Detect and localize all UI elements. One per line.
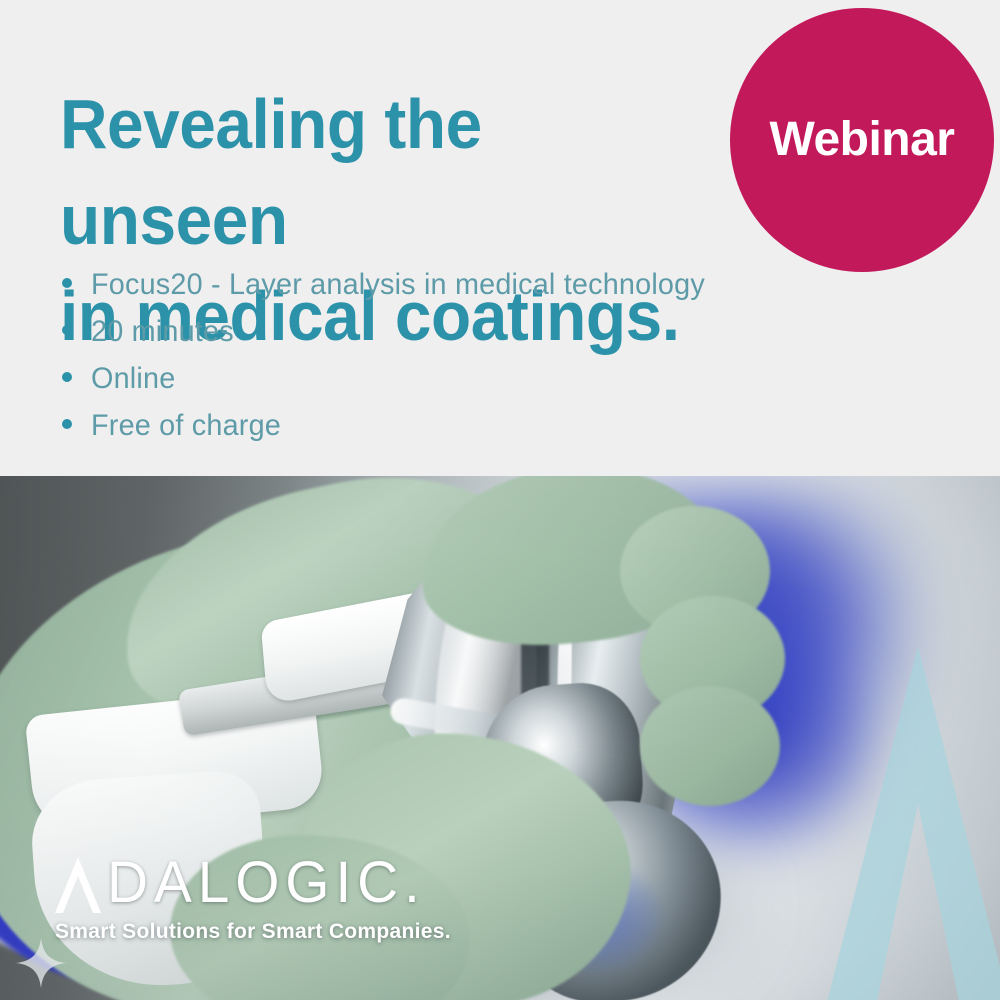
chevron-brand-mark-icon bbox=[770, 646, 1000, 1000]
logo-tagline: Smart Solutions for Smart Companies. bbox=[55, 920, 475, 944]
list-item: 20 minutes bbox=[62, 315, 731, 362]
brand-logo: DALOGIC. Smart Solutions for Smart Compa… bbox=[55, 852, 475, 944]
bullet-dot-icon bbox=[62, 278, 72, 288]
bullet-dot-icon bbox=[62, 325, 72, 335]
logo-chevron-a-icon bbox=[55, 857, 101, 913]
sparkle-icon bbox=[16, 938, 66, 988]
list-item-label: Free of charge bbox=[91, 409, 281, 443]
webinar-badge: Webinar bbox=[730, 8, 994, 272]
logo-wordmark: DALOGIC. bbox=[55, 852, 475, 912]
webinar-promo-poster: Revealing the unseen in medical coatings… bbox=[0, 0, 1000, 1000]
list-item-label: 20 minutes bbox=[91, 315, 234, 349]
bullet-dot-icon bbox=[62, 419, 72, 429]
logo-wordmark-text: DALOGIC. bbox=[107, 854, 426, 912]
glove-knuckle-lower bbox=[640, 686, 780, 806]
bullet-dot-icon bbox=[62, 372, 72, 382]
list-item: Free of charge bbox=[62, 409, 731, 456]
webinar-badge-label: Webinar bbox=[770, 116, 955, 164]
detail-list: Focus20 - Layer analysis in medical tech… bbox=[62, 268, 731, 456]
list-item: Online bbox=[62, 362, 731, 409]
list-item: Focus20 - Layer analysis in medical tech… bbox=[62, 268, 731, 315]
header-panel: Revealing the unseen in medical coatings… bbox=[0, 0, 1000, 476]
list-item-label: Online bbox=[91, 362, 175, 396]
list-item-label: Focus20 - Layer analysis in medical tech… bbox=[91, 268, 705, 302]
